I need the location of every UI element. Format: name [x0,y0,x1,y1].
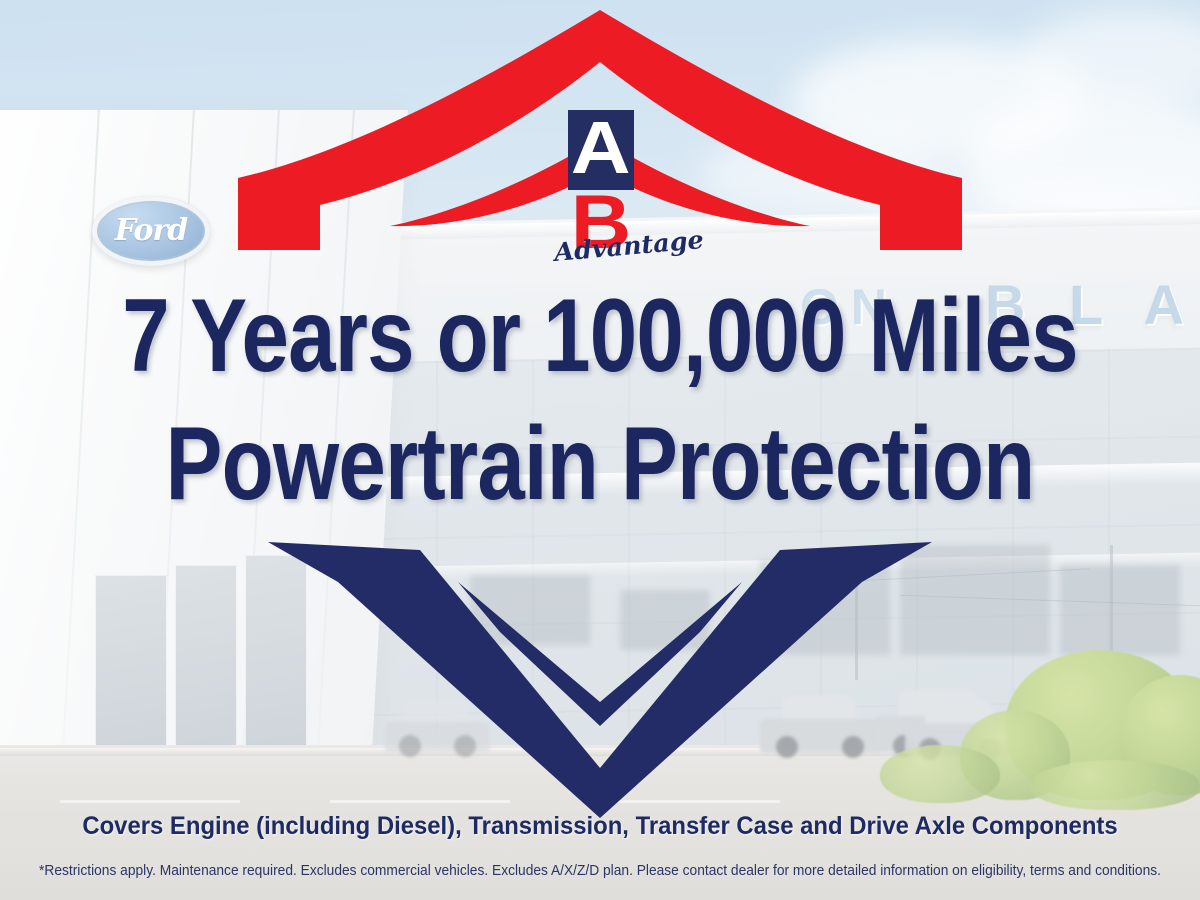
graphic-overlay: A B Advantage 7 Years or 100,000 Miles P… [0,0,1200,900]
ab-advantage-logo: A B Advantage [555,110,647,263]
headline-block: 7 Years or 100,000 Miles Powertrain Prot… [0,283,1200,517]
headline-line-1: 7 Years or 100,000 Miles [108,283,1092,389]
logo-a-box: A [568,110,634,190]
headline-line-2: Powertrain Protection [108,411,1092,517]
navy-chevron-bottom [0,520,1200,830]
coverage-statement: Covers Engine (including Diesel), Transm… [27,812,1173,841]
promotional-poster: Ford ON B L A [0,0,1200,900]
logo-letter-a: A [571,111,631,185]
disclaimer-text: *Restrictions apply. Maintenance require… [30,863,1170,879]
